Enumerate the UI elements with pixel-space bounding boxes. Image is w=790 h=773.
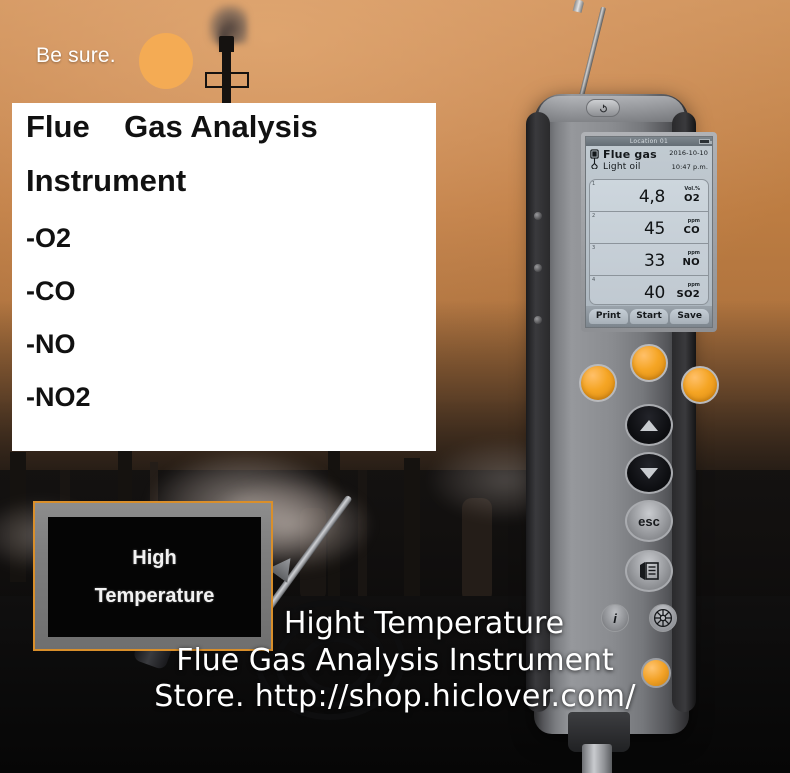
table-row[interactable]: 2 45 ppm CO (590, 212, 708, 244)
table-row[interactable]: 1 4,8 Vol.% O2 (590, 180, 708, 212)
measurement-value: 40 (644, 283, 665, 303)
row-index: 1 (592, 181, 595, 187)
brand-dot (139, 33, 193, 89)
info-panel-title-line1: Flue Gas Analysis (26, 109, 426, 145)
fuel-type-icon (589, 149, 600, 169)
caption-line-1: Hight Temperature (0, 606, 790, 643)
down-key[interactable] (625, 452, 673, 494)
softkey-bar: Print Start Save (586, 306, 712, 327)
softkey-print[interactable]: Print (589, 309, 628, 324)
row-index: 4 (592, 277, 595, 283)
caption-line-2: Flue Gas Analysis Instrument (0, 643, 790, 680)
fuel-subtitle: Light oil (603, 162, 641, 172)
list-item: -NO (26, 331, 91, 358)
softkey-save[interactable]: Save (670, 309, 709, 324)
table-row[interactable]: 4 40 ppm SO2 (590, 276, 708, 305)
grip-stud (534, 264, 542, 272)
measurement-unit: Vol.% (684, 186, 700, 192)
measurement-list[interactable]: 1 4,8 Vol.% O2 2 45 ppm CO 3 33 ppm NO (589, 179, 709, 305)
table-row[interactable]: 3 33 ppm NO (590, 244, 708, 276)
list-item: -O2 (26, 225, 91, 252)
measurement-value: 4,8 (639, 187, 665, 207)
chevron-down-icon (640, 468, 658, 479)
battery-icon (699, 139, 710, 144)
info-panel-title-line2: Instrument (26, 163, 186, 199)
measurement-unit: ppm (688, 218, 700, 224)
grip-stud (534, 316, 542, 324)
chevron-up-icon (640, 420, 658, 431)
high-temperature-line1: High (132, 539, 176, 577)
up-key[interactable] (625, 404, 673, 446)
measurement-unit: ppm (688, 250, 700, 256)
stack-platform-upper (205, 72, 249, 88)
measurement-value: 45 (644, 219, 665, 239)
brand-tagline: Be sure. (36, 44, 116, 68)
screen-header: Flue gas Light oil 2016-10-10 10:47 p.m. (589, 148, 709, 176)
info-panel: Flue Gas Analysis Instrument -O2 -CO -NO… (12, 103, 436, 451)
lcd-screen[interactable]: Location 01 Flue gas Light oil 2016-10-1… (585, 136, 713, 328)
grip-stud (534, 212, 542, 220)
gas-list: -O2 -CO -NO -NO2 (26, 225, 91, 437)
row-index: 3 (592, 245, 595, 251)
bottom-caption: Hight Temperature Flue Gas Analysis Inst… (0, 606, 790, 716)
screen-date: 2016-10-10 (669, 149, 708, 157)
measurement-gas: CO (684, 225, 700, 236)
softkey-button-right[interactable] (681, 366, 719, 404)
softkey-button-middle[interactable] (630, 344, 668, 382)
menu-list-icon (638, 561, 660, 581)
measurement-gas: NO (683, 257, 700, 268)
menu-button[interactable] (625, 550, 673, 592)
list-item: -CO (26, 278, 91, 305)
screen-time: 10:47 p.m. (672, 163, 708, 171)
measurement-unit: ppm (688, 282, 700, 288)
softkey-start[interactable]: Start (630, 309, 669, 324)
row-index: 2 (592, 213, 595, 219)
list-item: -NO2 (26, 384, 91, 411)
measurement-gas: O2 (684, 193, 700, 204)
softkey-button-left[interactable] (579, 364, 617, 402)
esc-button[interactable]: esc (625, 500, 673, 542)
caption-line-3: Store. http://shop.hiclover.com/ (0, 679, 790, 716)
probe-socket (582, 744, 612, 773)
screen-titlebar: Location 01 (586, 137, 712, 146)
fuel-title: Flue gas (603, 148, 657, 161)
measurement-value: 33 (644, 251, 665, 271)
power-button[interactable] (586, 99, 620, 117)
refinery-tower-7 (404, 458, 420, 603)
measurement-gas: SO2 (676, 289, 700, 300)
power-icon (599, 104, 608, 113)
promo-image-canvas: Be sure. Flue Gas Analysis Instrument -O… (0, 0, 790, 773)
